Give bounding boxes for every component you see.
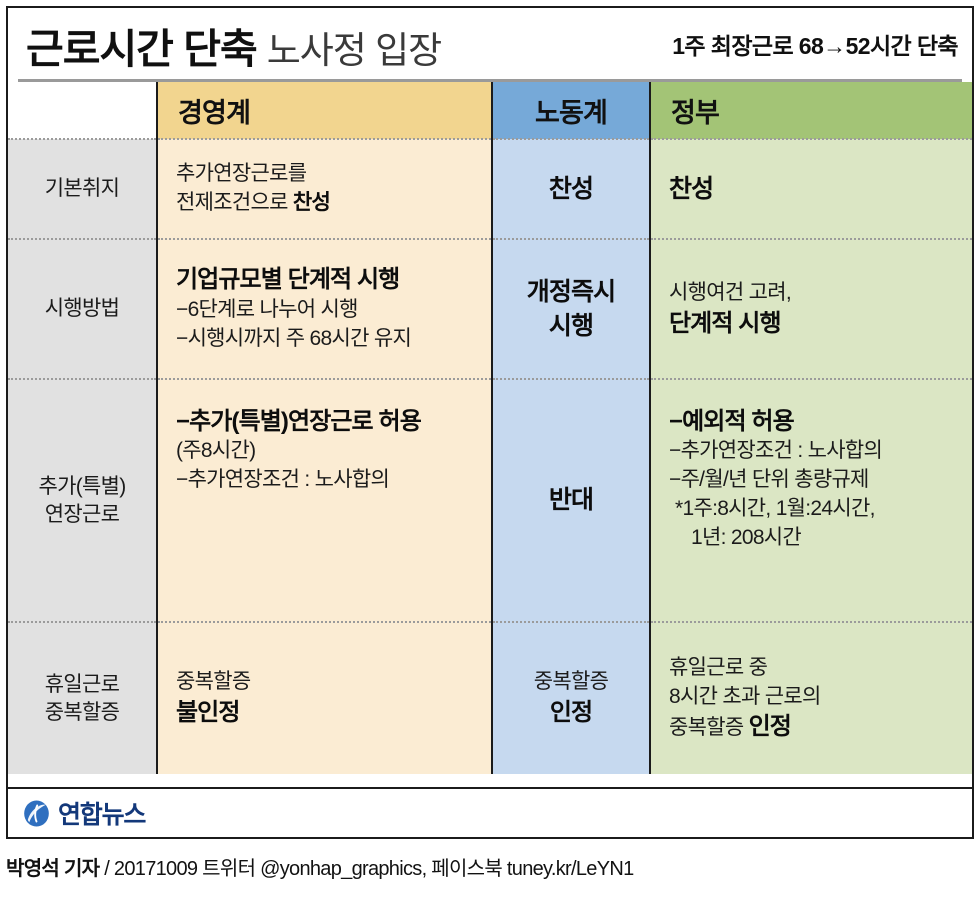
- cell-government-implementation-method: 시행여건 고려, 단계적 시행: [650, 239, 972, 379]
- infographic-root: 근로시간 단축 노사정 입장 1주 최장근로 68→52시간 단축 경영계 노동…: [0, 0, 980, 911]
- table-row-implementation-method: 시행방법 기업규모별 단계적 시행 −6단계로 나누어 시행 −시행시까지 주 …: [8, 239, 972, 379]
- cell-business-extra-overtime: −추가(특별)연장근로 허용 (주8시간) −추가연장조건 : 노사합의: [157, 379, 492, 622]
- cell-business-implementation-method: 기업규모별 단계적 시행 −6단계로 나누어 시행 −시행시까지 주 68시간 …: [157, 239, 492, 379]
- text-line: 중복할증: [8, 699, 156, 727]
- row-label-extra-overtime: 추가(특별) 연장근로: [8, 379, 157, 622]
- credit-line: 박영석 기자 / 20171009 트위터 @yonhap_graphics, …: [6, 852, 974, 881]
- header-cell-labor: 노동계: [492, 82, 650, 139]
- text-line: *1주:8시간, 1월:24시간,: [669, 495, 956, 524]
- text-line: 추가(특별): [8, 473, 156, 501]
- text-line: 시행여건 고려,: [669, 279, 956, 308]
- text-line: (주8시간): [176, 437, 475, 466]
- text-line: 연장근로: [8, 501, 156, 529]
- text-line: 추가연장근로를: [176, 160, 475, 189]
- text-line: −6단계로 나누어 시행: [176, 296, 475, 325]
- text-line: 중복할증: [501, 668, 641, 697]
- text-line: 중복할증: [669, 716, 749, 739]
- text-line: −주/월/년 단위 총량규제: [669, 466, 956, 495]
- cell-business-basic-stance: 추가연장근로를 전제조건으로 찬성: [157, 139, 492, 239]
- header-cell-business: 경영계: [157, 82, 492, 139]
- text-emphasis: 찬성: [293, 191, 330, 214]
- cell-labor-basic-stance: 찬성: [492, 139, 650, 239]
- infographic-frame: 근로시간 단축 노사정 입장 1주 최장근로 68→52시간 단축 경영계 노동…: [6, 6, 974, 839]
- title-group: 근로시간 단축 노사정 입장: [26, 15, 441, 75]
- title-rule: [18, 79, 962, 82]
- cell-labor-extra-overtime: 반대: [492, 379, 650, 622]
- text-line: 휴일근로 중: [669, 654, 956, 683]
- text-line: 개정즉시: [501, 275, 641, 310]
- cell-government-extra-overtime: −예외적 허용 −추가연장조건 : 노사합의 −주/월/년 단위 총량규제 *1…: [650, 379, 972, 622]
- row-label-implementation-method: 시행방법: [8, 239, 157, 379]
- comparison-table: 경영계 노동계 정부 기본취지 추가연장근로를 전제조건으로 찬성: [8, 82, 972, 774]
- text-line: 중복할증: [176, 668, 475, 697]
- text-line: 1년: 208시간: [669, 524, 956, 553]
- credit-author: 박영석 기자: [6, 858, 99, 880]
- title-band: 근로시간 단축 노사정 입장 1주 최장근로 68→52시간 단축: [8, 8, 972, 82]
- text-line: 8시간 초과 근로의: [669, 683, 956, 712]
- header-cell-blank: [8, 82, 157, 139]
- text-line: 기업규모별 단계적 시행: [176, 264, 475, 295]
- cell-government-holiday-premium: 휴일근로 중 8시간 초과 근로의 중복할증 인정: [650, 622, 972, 774]
- text-line: −추가연장조건 : 노사합의: [669, 437, 956, 466]
- row-label-basic-stance: 기본취지: [8, 139, 157, 239]
- text-line: 휴일근로: [8, 671, 156, 699]
- yonhap-logo-icon: [22, 799, 51, 828]
- headline-note: 1주 최장근로 68→52시간 단축: [672, 27, 958, 63]
- table-header-row: 경영계 노동계 정부: [8, 82, 972, 139]
- text-line: 단계적 시행: [669, 308, 956, 339]
- table-row-holiday-premium: 휴일근로 중복할증 중복할증 불인정 중복할증 인정: [8, 622, 972, 774]
- text-emphasis: 인정: [749, 713, 791, 740]
- logo-wordmark: 연합뉴스: [58, 795, 145, 831]
- text-line: −예외적 허용: [669, 406, 956, 437]
- text-line: 시행: [501, 309, 641, 344]
- logo-bar: 연합뉴스: [8, 787, 972, 837]
- table-row-extra-overtime: 추가(특별) 연장근로 −추가(특별)연장근로 허용 (주8시간) −추가연장조…: [8, 379, 972, 622]
- header-cell-government: 정부: [650, 82, 972, 139]
- cell-labor-implementation-method: 개정즉시 시행: [492, 239, 650, 379]
- cell-business-holiday-premium: 중복할증 불인정: [157, 622, 492, 774]
- page-subtitle: 노사정 입장: [267, 20, 441, 74]
- text-line: 전제조건으로: [176, 191, 293, 214]
- cell-labor-holiday-premium: 중복할증 인정: [492, 622, 650, 774]
- table-row-basic-stance: 기본취지 추가연장근로를 전제조건으로 찬성 찬성 찬성: [8, 139, 972, 239]
- cell-government-basic-stance: 찬성: [650, 139, 972, 239]
- row-label-holiday-premium: 휴일근로 중복할증: [8, 622, 157, 774]
- credit-meta: / 20171009 트위터 @yonhap_graphics, 페이스북 tu…: [99, 858, 633, 880]
- text-line: −추가연장조건 : 노사합의: [176, 466, 475, 495]
- text-line: −시행시까지 주 68시간 유지: [176, 325, 475, 354]
- text-line: −추가(특별)연장근로 허용: [176, 406, 475, 437]
- text-line: 불인정: [176, 697, 475, 728]
- page-title: 근로시간 단축: [26, 15, 257, 75]
- text-line: 인정: [501, 697, 641, 728]
